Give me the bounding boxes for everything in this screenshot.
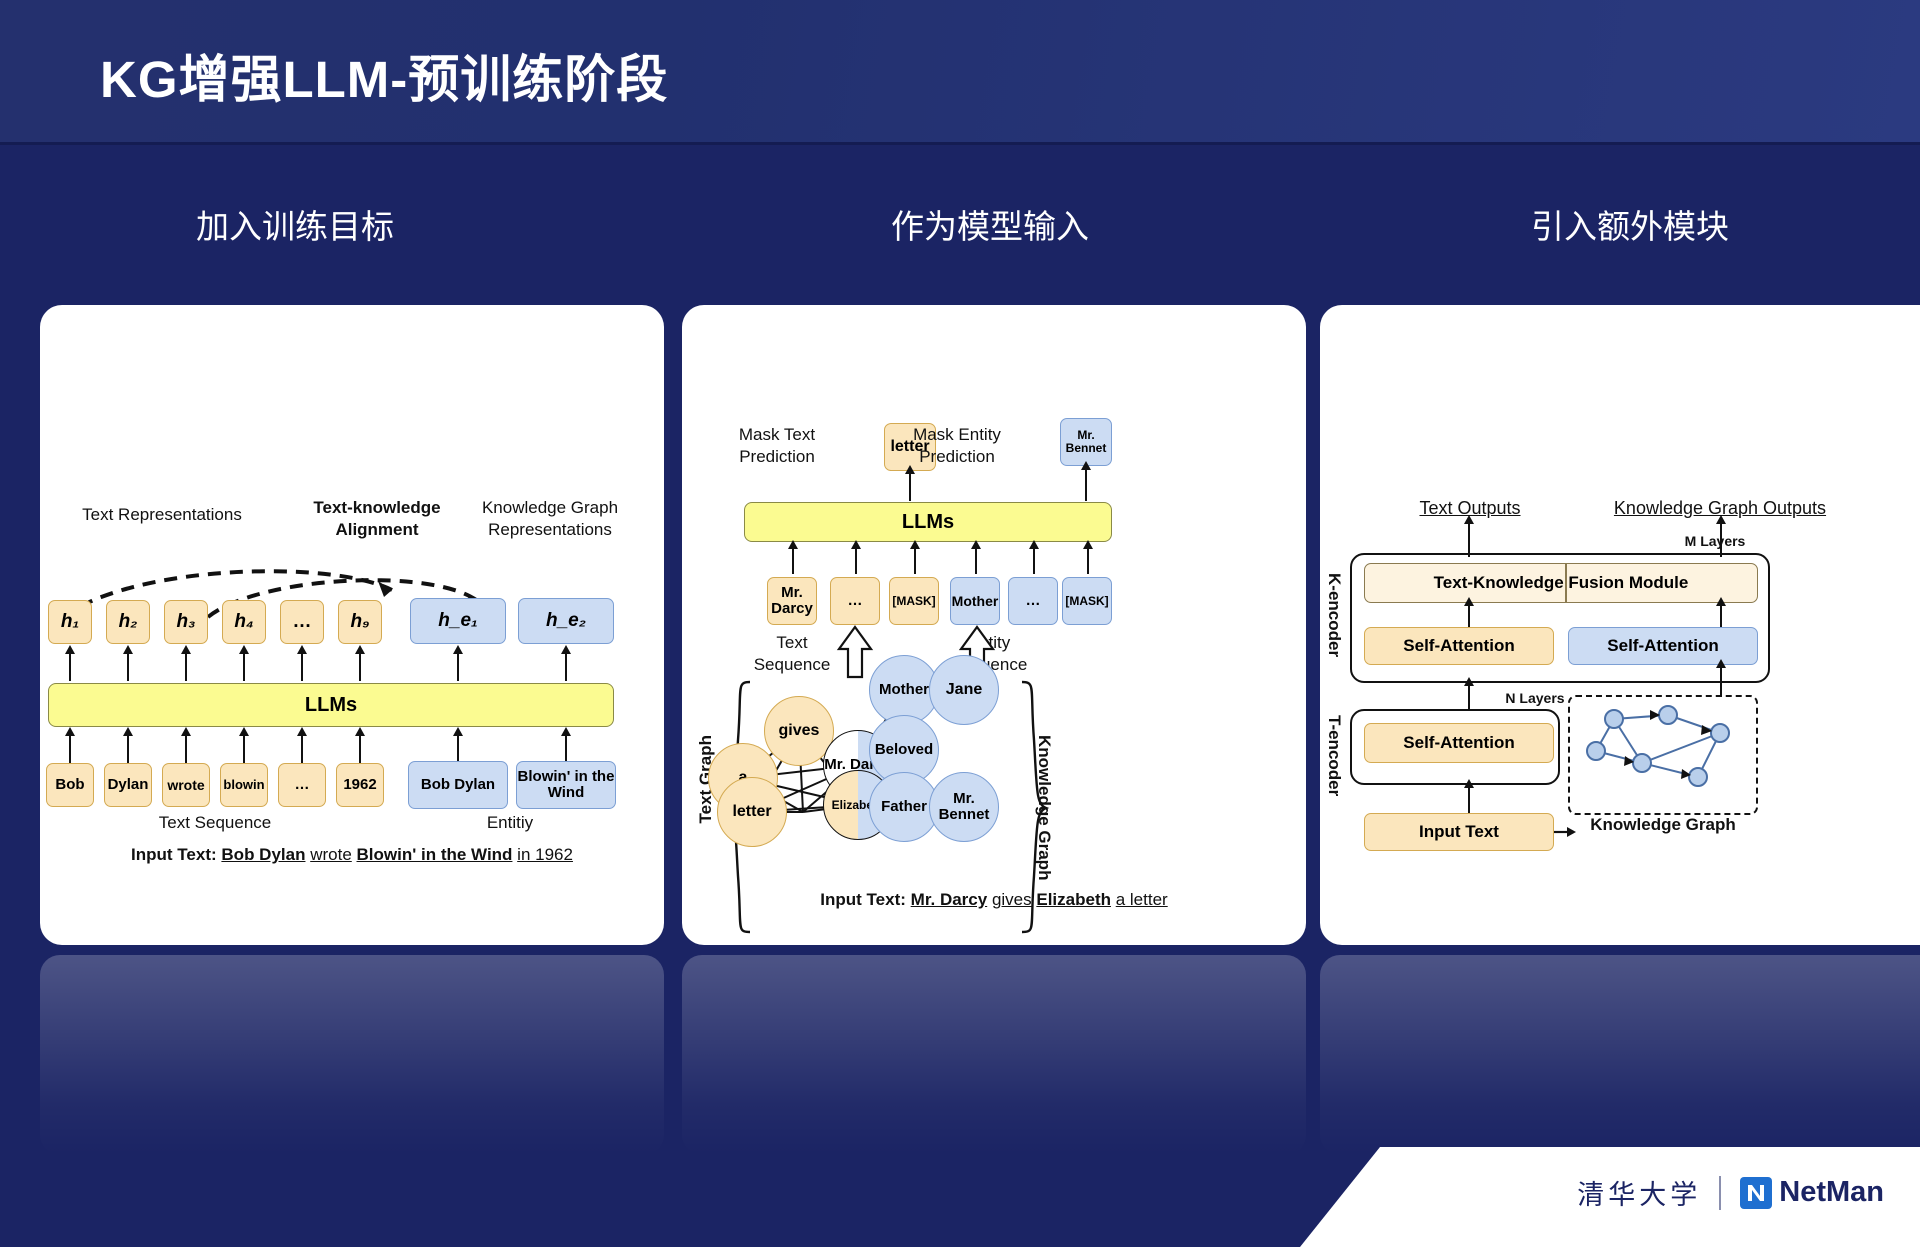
input-text-part: in 1962 [517,845,573,864]
panel-model-input: Mask Text Prediction letter Mask Entity … [682,305,1306,945]
arrow-up-icon [185,653,187,681]
k-encoder-self-attention-text: Self-Attention [1364,627,1554,665]
netman-logo-text: NetMan [1779,1176,1884,1209]
page-title: KG增强LLM-预训练阶段 [100,38,668,112]
token-box: blowin [220,763,268,807]
panel-extra-module: Text Outputs Knowledge Graph Outputs K-e… [1320,305,1920,945]
label-kg-representations-line2: Representations [450,520,650,540]
arrow-up-icon [1468,685,1470,711]
ghost-card-1 [40,955,664,1155]
panel-training-objective: Text Representations Text-knowledge Alig… [40,305,664,945]
arrow-up-icon [359,735,361,763]
fusion-module-block: Text-Knowledge Fusion Module [1364,563,1758,603]
arrow-up-icon [69,653,71,681]
logo-divider [1719,1176,1721,1210]
label-text-sequence: Text Sequence [85,813,345,833]
input-text-block: Input Text [1364,813,1554,851]
input-text-prefix: Input Text: [820,890,906,909]
arrow-up-icon [69,735,71,763]
hidden-state-box: h₃ [164,600,208,644]
arrow-up-icon [1720,605,1722,629]
input-text-prefix: Input Text: [131,845,217,864]
label-text-representations: Text Representations [52,505,272,525]
arrow-up-icon [301,735,303,763]
input-text-part: Blowin' in the Wind [357,845,513,864]
arrow-up-icon [565,653,567,681]
entity-box: Blowin' in the Wind [516,761,616,809]
arrow-up-icon [1468,605,1470,629]
arrow-up-icon [127,735,129,763]
netman-mark-icon [1739,1176,1773,1210]
arrow-up-icon [565,735,567,763]
entity-state-box: h_e₂ [518,598,614,644]
ghost-card-2 [682,955,1306,1155]
input-text-part: Bob Dylan [221,845,305,864]
arrow-up-icon [301,653,303,681]
token-box: wrote [162,763,210,807]
slide-body: 加入训练目标 作为模型输入 引入额外模块 Text Representation… [0,145,1920,1247]
arrow-up-icon [185,735,187,763]
input-text-part: Mr. Darcy [911,890,988,909]
arrow-up-icon [457,653,459,681]
label-m-layers: M Layers [1660,533,1770,550]
arrow-up-icon [243,735,245,763]
knowledge-graph-icon [1572,699,1754,811]
netman-logo: NetMan [1739,1176,1884,1210]
token-box: Bob [46,763,94,807]
label-entity-sequence: Entitiy [390,813,630,833]
llms-block: LLMs [48,683,614,727]
graph-edges [682,305,1306,945]
hidden-state-box: h₂ [106,600,150,644]
column-title-3: 引入额外模块 [1320,200,1920,248]
arrow-up-icon [127,653,129,681]
t-encoder-self-attention: Self-Attention [1364,723,1554,763]
fusion-module-divider [1565,563,1567,603]
input-text-part: wrote [310,845,352,864]
graph-node-letter: letter [717,777,787,847]
hidden-state-box: h₁ [48,600,92,644]
token-box: 1962 [336,763,384,807]
column-title-2: 作为模型输入 [680,200,1300,248]
hidden-state-box: h₄ [222,600,266,644]
token-box: Dylan [104,763,152,807]
k-encoder-self-attention-kg: Self-Attention [1568,627,1758,665]
arrow-up-icon [1468,523,1470,557]
arrow-up-icon [457,735,459,763]
arrow-up-icon [1720,667,1722,697]
token-box: … [278,763,326,807]
arrow-right-icon [1554,825,1578,839]
input-text-part: gives [992,890,1032,909]
label-kg-representations-line1: Knowledge Graph [450,498,650,518]
entity-box: Bob Dylan [408,761,508,809]
hidden-state-box: h₉ [338,600,382,644]
university-logo-text: 清华大学 [1577,1173,1701,1212]
column-title-1: 加入训练目标 [0,200,605,248]
kg-node-mr-bennet: Mr. Bennet [929,772,999,842]
ghost-card-3 [1320,955,1920,1155]
footer-logo-bar: 清华大学 NetMan [1300,1147,1920,1247]
page-header: KG增强LLM-预训练阶段 [0,0,1920,145]
label-knowledge-graph-block: Knowledge Graph [1568,815,1758,835]
arrow-up-icon [359,653,361,681]
label-k-encoder: K-encoder [1324,573,1344,657]
arrow-up-icon [243,653,245,681]
arrow-up-icon [1468,787,1470,813]
input-text-part: a letter [1116,890,1168,909]
label-t-encoder: T-encoder [1324,715,1344,796]
input-text-line-1: Input Text: Bob Dylan wrote Blowin' in t… [40,845,664,865]
kg-node-jane: Jane [929,655,999,725]
entity-state-box: h_e₁ [410,598,506,644]
input-text-part: Elizabeth [1036,890,1111,909]
input-text-line-2: Input Text: Mr. Darcy gives Elizabeth a … [682,890,1306,910]
hidden-state-box: … [280,600,324,644]
